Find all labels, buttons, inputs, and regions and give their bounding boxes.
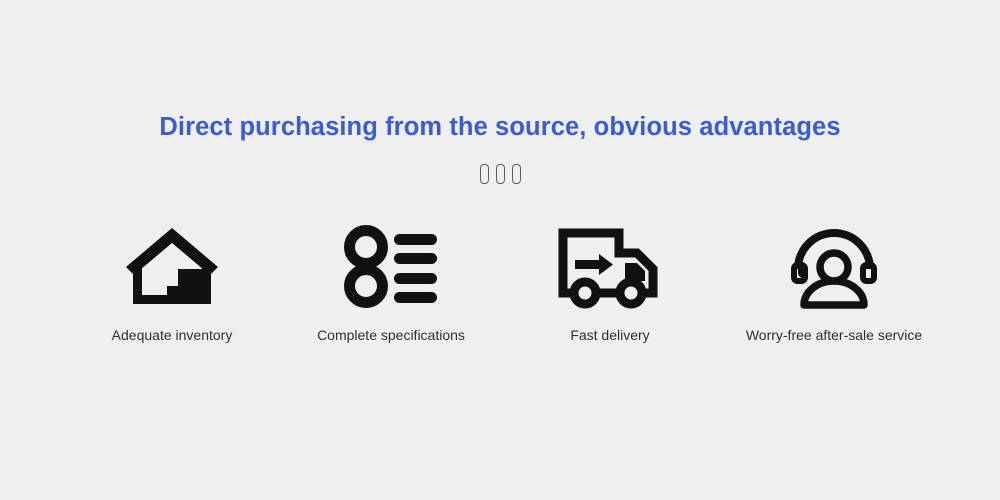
feature-item-specifications: Complete specifications (280, 223, 502, 344)
divider-bar-icon (480, 164, 489, 184)
feature-label: Adequate inventory (112, 327, 233, 344)
specification-list-icon (343, 223, 439, 309)
warehouse-house-icon (122, 223, 222, 309)
divider-ornament (480, 163, 521, 185)
feature-item-inventory: Adequate inventory (64, 223, 280, 344)
customer-support-headset-icon (788, 223, 880, 309)
feature-label: Fast delivery (570, 327, 649, 344)
feature-label: Complete specifications (317, 327, 465, 344)
delivery-truck-icon (557, 223, 663, 309)
feature-list: Adequate inventory Complete specific (0, 223, 1000, 344)
feature-item-after-sale-service: Worry-free after-sale service (718, 223, 950, 344)
divider-bar-icon (496, 164, 505, 184)
divider-bar-icon (512, 164, 521, 184)
feature-item-delivery: Fast delivery (502, 223, 718, 344)
page-title: Direct purchasing from the source, obvio… (159, 112, 840, 143)
feature-label: Worry-free after-sale service (746, 327, 922, 344)
promo-banner: Direct purchasing from the source, obvio… (0, 0, 1000, 500)
